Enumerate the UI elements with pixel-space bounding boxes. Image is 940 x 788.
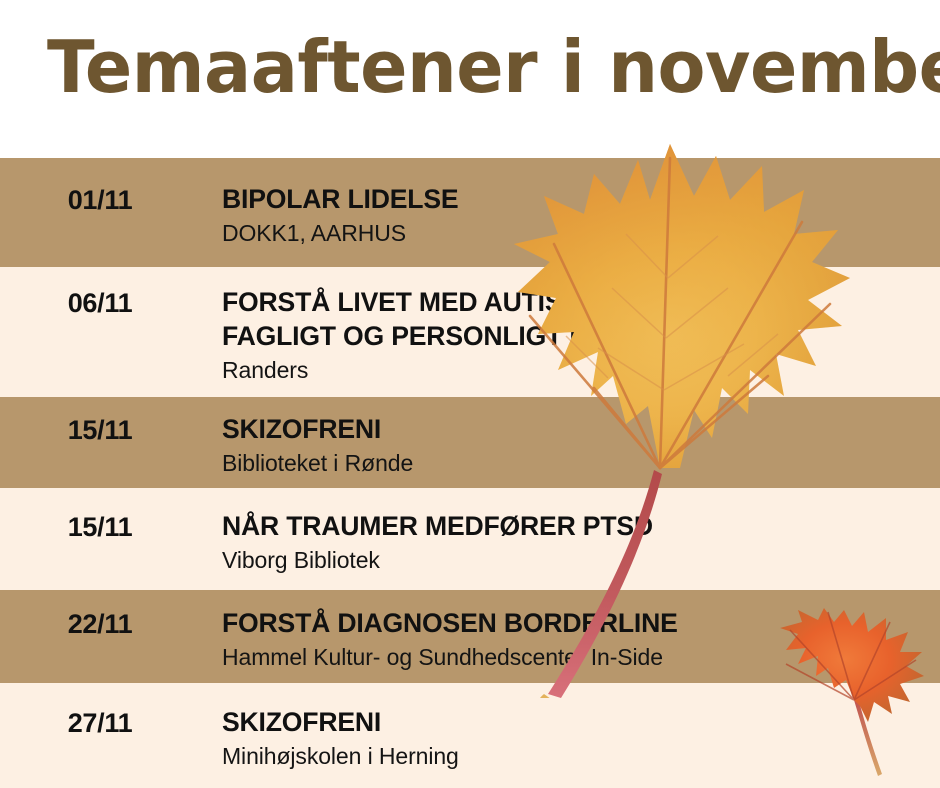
row-venue: Biblioteket i Rønde	[222, 449, 940, 477]
row-title: SKIZOFRENI	[222, 705, 929, 739]
row-venue: Minihøjskolen i Herning	[222, 742, 940, 770]
poster-canvas: Temaaftener i november 01/11BIPOLAR LIDE…	[0, 0, 940, 788]
schedule-row: 06/11FORSTÅ LIVET MED AUTISME UD FRA ET …	[0, 267, 940, 397]
row-venue: Hammel Kultur- og Sundhedscenter In-Side	[222, 643, 940, 671]
row-title: FORSTÅ LIVET MED AUTISME UD FRA ET FAGLI…	[222, 285, 929, 353]
row-venue: Randers	[222, 356, 940, 384]
row-body: SKIZOFRENIMinihøjskolen i Herning	[222, 705, 940, 770]
schedule-list: 01/11BIPOLAR LIDELSEDOKK1, AARHUS06/11FO…	[0, 158, 940, 788]
row-title: NÅR TRAUMER MEDFØRER PTSD	[222, 509, 929, 543]
row-date: 01/11	[0, 185, 200, 216]
row-body: BIPOLAR LIDELSEDOKK1, AARHUS	[222, 182, 940, 247]
schedule-row: 27/11SKIZOFRENIMinihøjskolen i Herning	[0, 683, 940, 788]
row-body: FORSTÅ DIAGNOSEN BORDERLINEHammel Kultur…	[222, 606, 940, 671]
poster-header: Temaaftener i november	[0, 0, 940, 158]
row-date: 15/11	[0, 415, 200, 446]
row-venue: Viborg Bibliotek	[222, 546, 940, 574]
row-venue: DOKK1, AARHUS	[222, 219, 940, 247]
schedule-row: 22/11FORSTÅ DIAGNOSEN BORDERLINEHammel K…	[0, 590, 940, 683]
page-title: Temaaftener i november	[47, 28, 940, 106]
row-body: NÅR TRAUMER MEDFØRER PTSDViborg Bibliote…	[222, 509, 940, 574]
row-date: 22/11	[0, 609, 200, 640]
row-date: 06/11	[0, 288, 200, 319]
row-title: FORSTÅ DIAGNOSEN BORDERLINE	[222, 606, 929, 640]
schedule-row: 15/11NÅR TRAUMER MEDFØRER PTSDViborg Bib…	[0, 488, 940, 590]
row-body: SKIZOFRENIBiblioteket i Rønde	[222, 412, 940, 477]
schedule-row: 15/11SKIZOFRENIBiblioteket i Rønde	[0, 397, 940, 488]
row-title: SKIZOFRENI	[222, 412, 929, 446]
row-date: 27/11	[0, 708, 200, 739]
row-body: FORSTÅ LIVET MED AUTISME UD FRA ET FAGLI…	[222, 285, 940, 384]
schedule-row: 01/11BIPOLAR LIDELSEDOKK1, AARHUS	[0, 158, 940, 267]
row-title: BIPOLAR LIDELSE	[222, 182, 929, 216]
row-date: 15/11	[0, 512, 200, 543]
